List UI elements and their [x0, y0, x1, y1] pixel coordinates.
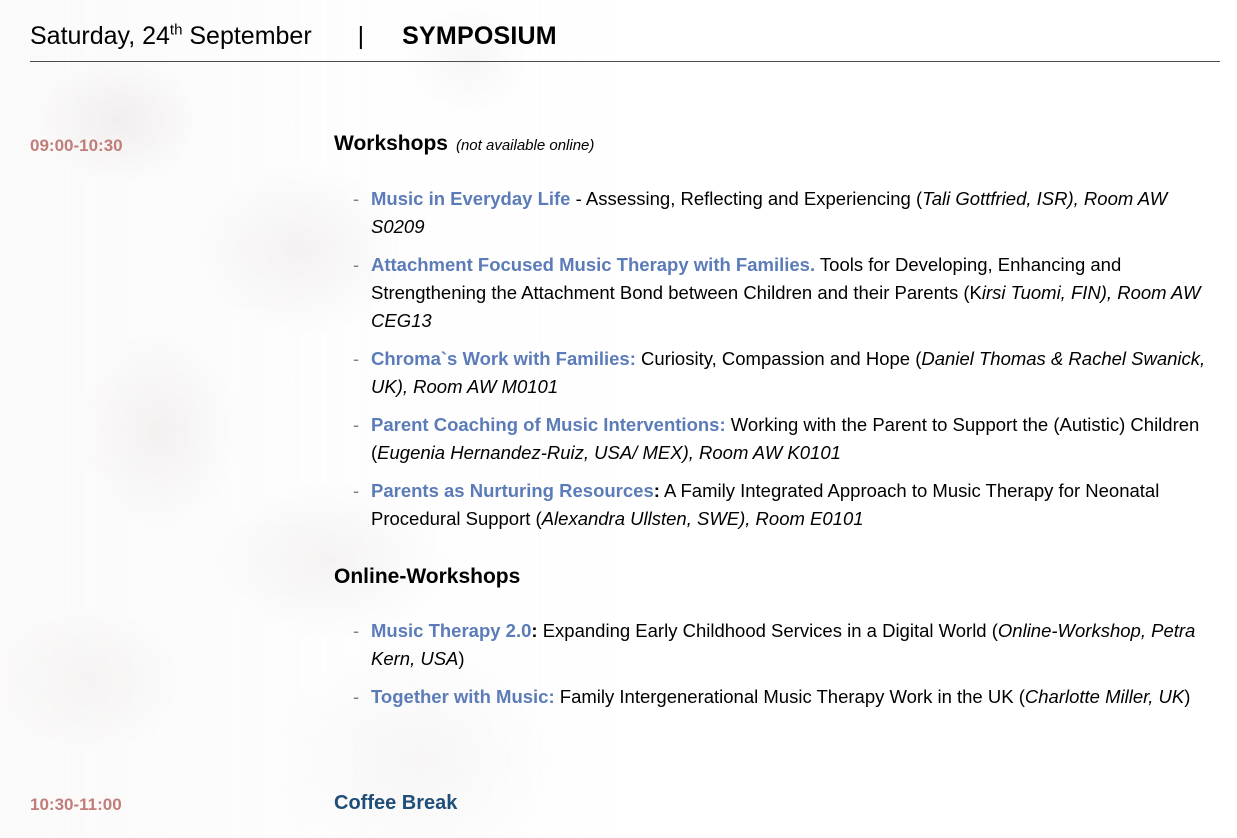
section-heading-workshops-note: (not available online)	[456, 137, 594, 154]
schedule-content-2: Coffee Break	[334, 790, 1220, 816]
list-item[interactable]: -Attachment Focused Music Therapy with F…	[334, 251, 1220, 335]
schedule-row-coffee-break: 10:30-11:00 Coffee Break	[30, 790, 1220, 816]
list-item[interactable]: -Chroma`s Work with Families: Curiosity,…	[334, 345, 1220, 401]
bullet-dash-icon: -	[353, 683, 359, 711]
workshop-credit: Charlotte Miller, UK	[1025, 686, 1184, 707]
header-date-prefix: Saturday, 24	[30, 22, 170, 50]
workshop-description: Curiosity, Compassion and Hope (	[636, 348, 922, 369]
workshop-title: Attachment Focused Music Therapy with Fa…	[371, 254, 810, 275]
list-item[interactable]: -Music Therapy 2.0: Expanding Early Chil…	[334, 617, 1220, 673]
page-header: Saturday, 24th September | SYMPOSIUM	[30, 20, 1220, 62]
list-item[interactable]: -Music in Everyday Life - Assessing, Ref…	[334, 185, 1220, 241]
list-item[interactable]: -Parent Coaching of Music Interventions:…	[334, 411, 1220, 467]
coffee-break-label: Coffee Break	[334, 790, 1220, 816]
online-workshop-list: -Music Therapy 2.0: Expanding Early Chil…	[334, 617, 1220, 711]
header-date-suffix: September	[182, 22, 311, 50]
bullet-dash-icon: -	[353, 477, 359, 505]
header-line: Saturday, 24th September | SYMPOSIUM	[30, 20, 1220, 52]
workshop-title: Chroma`s Work with Families:	[371, 348, 636, 369]
time-slot-1: 09:00-10:30	[30, 131, 334, 711]
workshop-title: Music in Everyday Life	[371, 188, 570, 209]
workshop-list: -Music in Everyday Life - Assessing, Ref…	[334, 185, 1220, 533]
list-item[interactable]: -Together with Music: Family Intergenera…	[334, 683, 1220, 711]
workshop-title: Together with Music:	[371, 686, 555, 707]
workshop-title: Parent Coaching of Music Interventions:	[371, 414, 726, 435]
bullet-dash-icon: -	[353, 411, 359, 439]
bullet-dash-icon: -	[353, 185, 359, 213]
bullet-dash-icon: -	[353, 251, 359, 279]
header-date: Saturday, 24th September	[30, 20, 312, 52]
workshop-title: Music Therapy 2.0	[371, 620, 531, 641]
header-separator: |	[358, 20, 365, 52]
schedule-row-workshops: 09:00-10:30 Workshops(not available onli…	[30, 131, 1220, 711]
section-heading-workshops-label: Workshops	[334, 132, 448, 155]
section-heading-workshops: Workshops(not available online)	[334, 131, 1220, 159]
header-divider	[30, 61, 1220, 62]
workshop-tail: )	[1184, 686, 1190, 707]
workshop-description: Assessing, Reflecting and Experiencing (	[586, 188, 922, 209]
header-date-ordinal: th	[170, 22, 183, 39]
workshop-tail: )	[458, 648, 464, 669]
schedule-page: Saturday, 24th September | SYMPOSIUM 09:…	[0, 0, 1237, 838]
workshop-description: Expanding Early Childhood Services in a …	[538, 620, 998, 641]
page-title: SYMPOSIUM	[402, 20, 557, 52]
section-heading-online-workshops: Online-Workshops	[334, 564, 1220, 590]
workshop-separator: -	[570, 188, 585, 209]
list-item[interactable]: -Parents as Nurturing Resources: A Famil…	[334, 477, 1220, 533]
schedule-content-1: Workshops(not available online) -Music i…	[334, 131, 1220, 711]
workshop-title: Parents as Nurturing Resources	[371, 480, 654, 501]
time-slot-2: 10:30-11:00	[30, 790, 334, 816]
workshop-description: Family Intergenerational Music Therapy W…	[555, 686, 1025, 707]
workshop-credit: Eugenia Hernandez-Ruiz, USA/ MEX), Room …	[377, 442, 841, 463]
bullet-dash-icon: -	[353, 345, 359, 373]
workshop-credit: Alexandra Ullsten, SWE), Room E0101	[542, 508, 864, 529]
bullet-dash-icon: -	[353, 617, 359, 645]
